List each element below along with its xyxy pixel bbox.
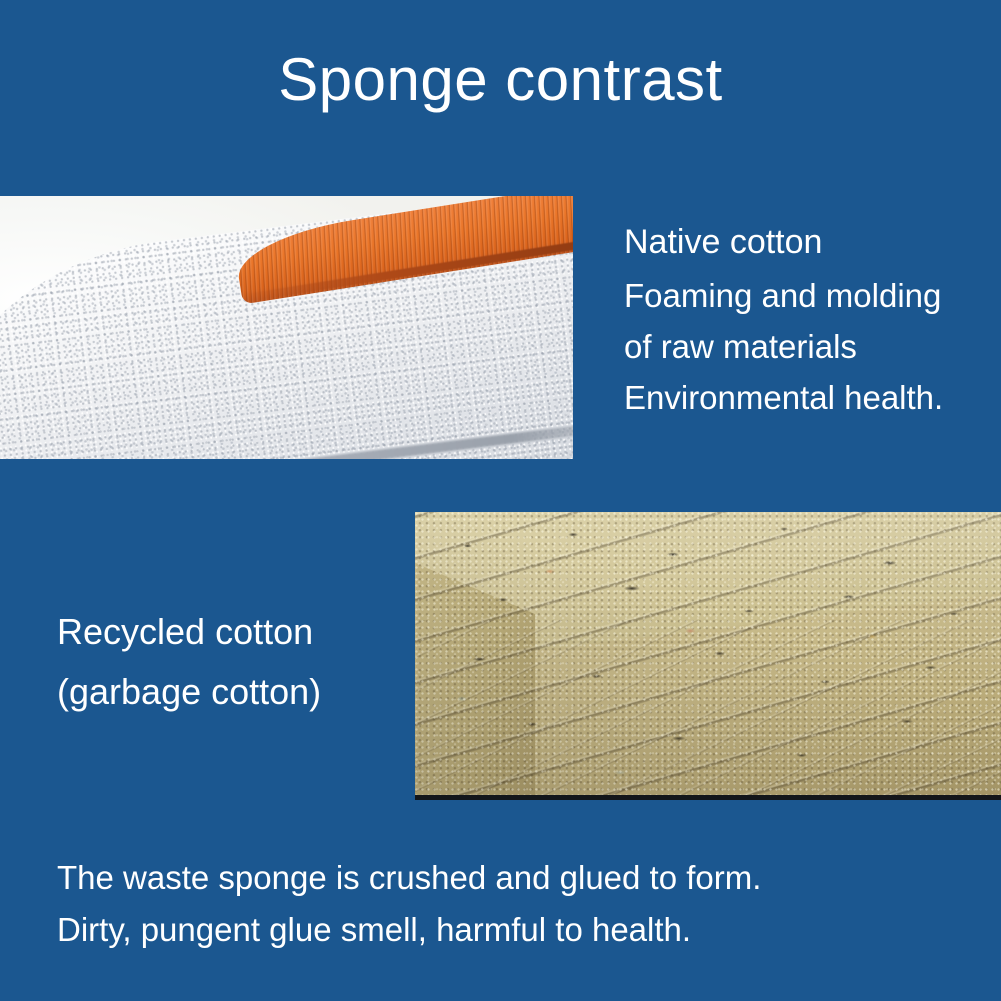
recycled-cotton-image [415,512,1001,800]
native-cotton-body: Foaming and molding of raw materials Env… [624,270,990,423]
recycled-shading-overlay [415,512,1001,795]
recycled-caption-line-2: (garbage cotton) [57,662,417,722]
recycled-cotton-caption: Recycled cotton (garbage cotton) [57,602,417,722]
native-body-line-3: Environmental health. [624,372,990,423]
poster-root: Sponge contrast Native cotton Foaming an… [0,0,1001,1001]
native-cotton-text-block: Native cotton Foaming and molding of raw… [624,218,990,423]
recycled-caption-line-1: Recycled cotton [57,602,417,662]
native-body-line-2: of raw materials [624,321,990,372]
bottom-note: The waste sponge is crushed and glued to… [57,852,957,956]
native-body-line-1: Foaming and molding [624,270,990,321]
bottom-note-line-2: Dirty, pungent glue smell, harmful to he… [57,904,957,956]
native-cotton-heading: Native cotton [624,218,990,266]
bottom-note-line-1: The waste sponge is crushed and glued to… [57,852,957,904]
native-cotton-image [0,196,573,459]
page-title: Sponge contrast [0,48,1001,111]
